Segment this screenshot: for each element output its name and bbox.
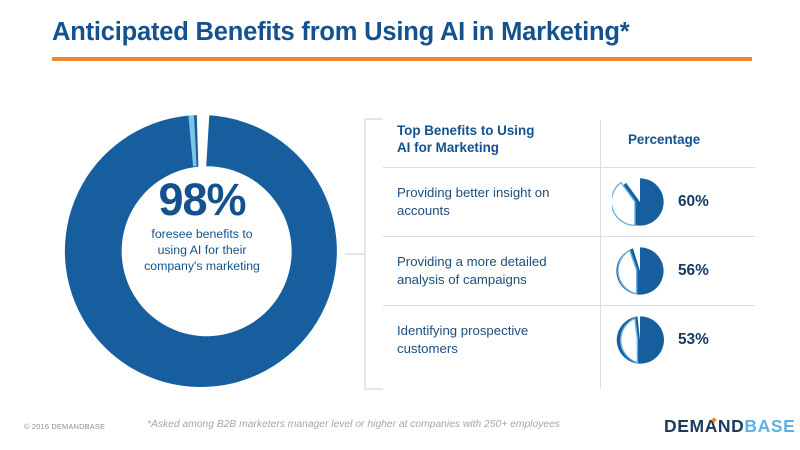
donut-caption: foresee benefits to using AI for their c… [144,227,260,274]
benefit-label-line-1: Providing a more detailed [397,253,547,270]
benefit-label-line-1: Identifying prospective [397,322,528,339]
benefit-label-line-2: customers [397,340,528,357]
table-header-percentage: Percentage [600,118,755,167]
slide-canvas: Anticipated Benefits from Using AI in Ma… [0,0,800,450]
table-header-benefit-line-2: AI for Marketing [397,139,534,156]
table-cell-percentage: 53% [600,306,755,374]
benefit-label-line-2: analysis of campaigns [397,271,547,288]
table-cell-benefit: Providing better insight on accounts [383,168,600,236]
title-block: Anticipated Benefits from Using AI in Ma… [52,18,762,61]
table-cell-percentage: 56% [600,237,755,305]
donut-caption-line-1: foresee benefits to [144,227,260,243]
footer: © 2016 DEMANDBASE *Asked among B2B marke… [0,415,800,450]
benefit-label-line-2: accounts [397,202,549,219]
footnote-text: *Asked among B2B marketers manager level… [147,419,560,430]
benefits-table: Top Benefits to Using AI for Marketing P… [383,118,755,374]
pie-icon-56 [612,243,668,299]
bracket-connector [343,118,387,390]
title-underline-rule [52,57,752,61]
table-cell-percentage: 60% [600,168,755,236]
donut-value: 98% [158,178,245,222]
donut-center-label: 98% foresee benefits to using AI for the… [119,178,285,328]
table-row[interactable]: Identifying prospective customers 53% [383,306,755,374]
donut-caption-line-2: using AI for their [144,243,260,259]
table-row[interactable]: Providing a more detailed analysis of ca… [383,237,755,305]
table-row[interactable]: Providing better insight on accounts 60% [383,168,755,236]
benefit-label-line-1: Providing better insight on [397,184,549,201]
pie-icon-53 [612,312,668,368]
page-title: Anticipated Benefits from Using AI in Ma… [52,18,762,46]
table-cell-benefit: Providing a more detailed analysis of ca… [383,237,600,305]
percent-value: 56% [678,262,709,280]
copyright-text: © 2016 DEMANDBASE [24,422,105,431]
table-header-benefit-line-1: Top Benefits to Using [397,122,534,139]
donut-caption-line-3: company's marketing [144,259,260,275]
logo-text-demand: DEMAND [664,416,744,436]
percent-value: 60% [678,193,709,211]
logo-text-base: BASE [744,416,795,436]
pie-icon-60 [612,174,668,230]
table-header-row: Top Benefits to Using AI for Marketing P… [383,118,755,167]
demandbase-logo: DEMANDBASE [664,416,795,437]
table-cell-benefit: Identifying prospective customers [383,306,600,374]
donut-chart: 98% foresee benefits to using AI for the… [55,112,347,390]
percent-value: 53% [678,331,709,349]
table-header-benefit: Top Benefits to Using AI for Marketing [383,118,600,167]
